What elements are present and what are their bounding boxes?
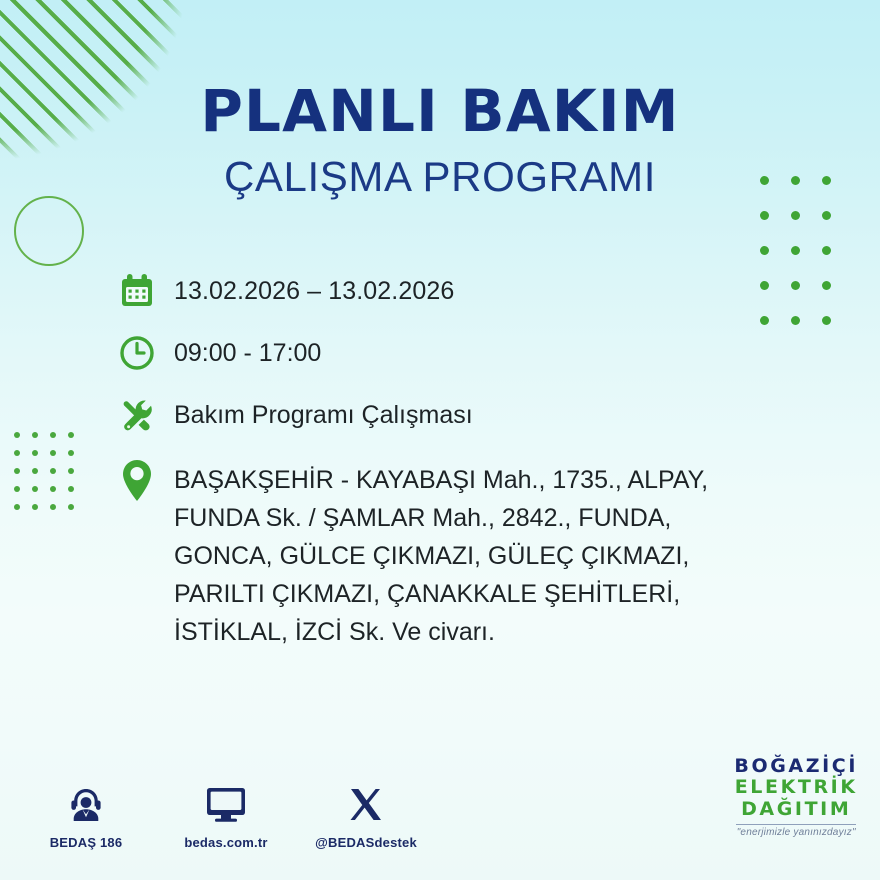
support-headset-icon — [65, 780, 107, 826]
brand-slogan: "enerjimizle yanınızdayız" — [734, 827, 858, 838]
contact-website-label: bedas.com.tr — [184, 835, 267, 850]
contact-phone-label: BEDAŞ 186 — [50, 835, 123, 850]
planned-maintenance-poster: PLANLI BAKIM ÇALIŞMA PROGRAMI 13 — [0, 0, 880, 880]
brand-line-1: BOĞAZİÇİ — [734, 756, 858, 777]
maintenance-time: 09:00 - 17:00 — [174, 334, 321, 369]
contact-x-label: @BEDASdestek — [315, 835, 417, 850]
x-twitter-icon — [346, 780, 386, 826]
maintenance-location: BAŞAKŞEHİR - KAYABAŞI Mah., 1735., ALPAY… — [174, 458, 764, 651]
page-title: PLANLI BAKIM — [0, 82, 880, 140]
tools-icon — [118, 396, 174, 434]
detail-row-time: 09:00 - 17:00 — [118, 334, 818, 372]
contact-phone[interactable]: BEDAŞ 186 — [38, 780, 134, 850]
maintenance-date: 13.02.2026 – 13.02.2026 — [174, 272, 454, 307]
contact-website[interactable]: bedas.com.tr — [178, 780, 274, 850]
detail-row-work-type: Bakım Programı Çalışması — [118, 396, 818, 434]
poster-footer: BEDAŞ 186 bedas.com.tr — [0, 754, 880, 864]
contact-channels: BEDAŞ 186 bedas.com.tr — [38, 780, 414, 850]
poster-header: PLANLI BAKIM ÇALIŞMA PROGRAMI — [0, 82, 880, 198]
calendar-icon — [118, 272, 174, 310]
map-pin-icon — [118, 458, 174, 503]
bedas-logo: BOĞAZİÇİ ELEKTRİK DAĞITIM "enerjimizle y… — [734, 756, 858, 838]
detail-row-location: BAŞAKŞEHİR - KAYABAŞI Mah., 1735., ALPAY… — [118, 458, 818, 651]
contact-x-social[interactable]: @BEDASdestek — [318, 780, 414, 850]
monitor-icon — [203, 780, 249, 826]
brand-line-2: ELEKTRİK — [734, 777, 858, 798]
circle-outline-decoration — [14, 196, 84, 266]
page-subtitle: ÇALIŞMA PROGRAMI — [0, 156, 880, 198]
maintenance-details: 13.02.2026 – 13.02.2026 09:00 - 17:00 — [118, 272, 818, 651]
brand-divider — [736, 824, 856, 825]
dot-grid-left-decoration — [14, 432, 86, 522]
maintenance-work-type: Bakım Programı Çalışması — [174, 396, 473, 431]
clock-icon — [118, 334, 174, 372]
detail-row-date: 13.02.2026 – 13.02.2026 — [118, 272, 818, 310]
brand-line-3: DAĞITIM — [734, 799, 858, 820]
